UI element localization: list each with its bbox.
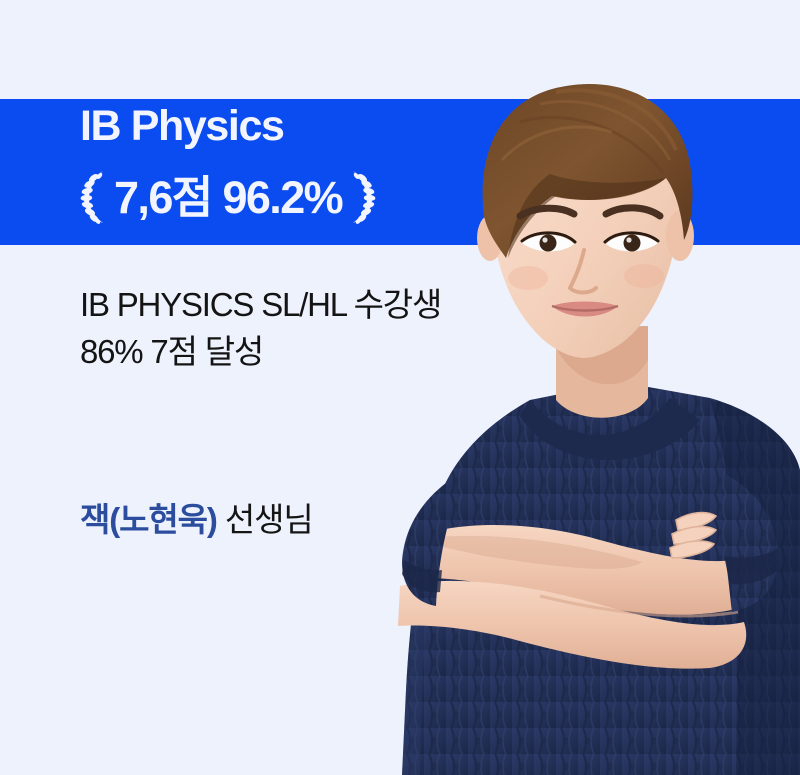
subheadline-line-1: IB PHYSICS SL/HL 수강생 — [80, 281, 441, 328]
teacher-name-primary: 잭(노현욱) — [80, 501, 217, 538]
score-text: 7,6점 96.2% — [114, 175, 342, 220]
laurel-branch-right-icon — [348, 169, 378, 225]
subheadline: IB PHYSICS SL/HL 수강생 86% 7점 달성 — [80, 281, 441, 375]
score-badge-row: 7,6점 96.2% — [78, 168, 378, 226]
subheadline-line-2: 86% 7점 달성 — [80, 328, 441, 375]
promo-card: IB Physics 7,6점 96.2% — [0, 0, 800, 775]
laurel-branch-left-icon — [78, 169, 108, 225]
course-title: IB Physics — [80, 105, 284, 148]
teacher-name: 잭(노현욱) 선생님 — [80, 500, 313, 540]
teacher-name-suffix: 선생님 — [217, 501, 313, 538]
